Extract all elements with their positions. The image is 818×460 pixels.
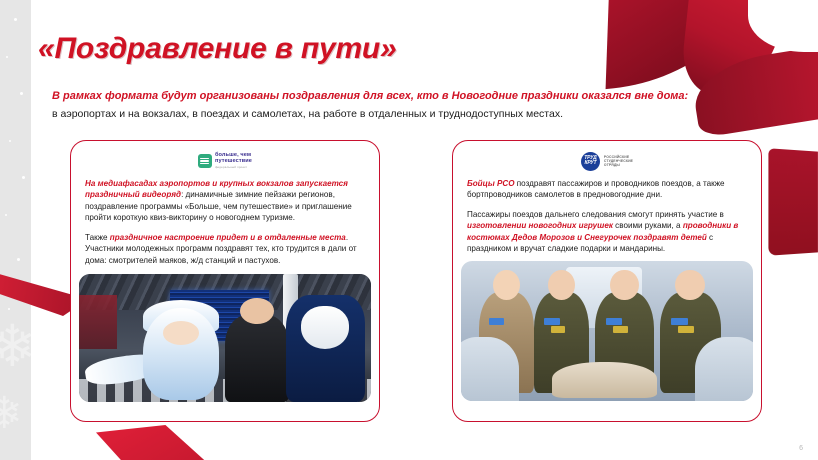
plain-run: своими руками, а [613, 221, 683, 230]
highlight-run: Бойцы РСО [467, 179, 515, 188]
card-media-facades[interactable]: больше, чем путешествие федеральный прое… [70, 140, 380, 422]
intro-sub-text: в аэропортах и на вокзалах, в поездах и … [52, 107, 672, 122]
highlight-run: изготовлении новогодних игрушек [467, 221, 613, 230]
highlight-run: праздничное настроение придет и в отдале… [110, 233, 346, 242]
paragraph: На медиафасадах аэропортов и крупных вок… [85, 178, 365, 224]
card-rso-trains[interactable]: ТРУД КРУТ РОССИЙСКИЕ СТУДЕНЧЕСКИЕ ОТРЯДЫ… [452, 140, 762, 422]
plain-run: Пассажиры поездов дальнего следования см… [467, 210, 724, 219]
ribbon-top-right-1 [606, 0, 761, 89]
page-number: 6 [799, 445, 803, 452]
card-logo-slot: ТРУД КРУТ РОССИЙСКИЕ СТУДЕНЧЕСКИЕ ОТРЯДЫ [453, 148, 761, 174]
slide-root: ❄ ❄ «Поздравление в пути» В рамках форма… [0, 0, 818, 460]
card-logo-slot: больше, чем путешествие федеральный прое… [71, 148, 379, 174]
snow-dot [22, 176, 25, 179]
rso-train-team-photo [461, 261, 753, 401]
page-title: «Поздравление в пути» [38, 32, 397, 66]
snow-dot [6, 56, 8, 58]
ribbon-top-right-2 [679, 0, 789, 101]
card-body-text: На медиафасадах аэропортов и крупных вок… [71, 174, 379, 266]
emblem-line-2: КРУТ [584, 161, 596, 166]
left-decor-strip: ❄ ❄ [0, 0, 31, 460]
book-mark-icon [198, 154, 212, 168]
intro-lead-text: В рамках формата будут организованы позд… [52, 89, 672, 105]
paragraph: Бойцы РСО поздравят пассажиров и проводн… [467, 178, 747, 201]
snow-dot [9, 140, 11, 142]
ribbon-top-right-mask [748, 0, 818, 52]
ribbon-top-right-3 [689, 46, 818, 138]
snow-dot [20, 92, 23, 95]
plain-run: Также [85, 233, 110, 242]
rso-trud-krut-logo: ТРУД КРУТ РОССИЙСКИЕ СТУДЕНЧЕСКИЕ ОТРЯДЫ [581, 152, 633, 171]
rso-emblem-icon: ТРУД КРУТ [581, 152, 600, 171]
snow-dot [8, 308, 10, 310]
intro-block: В рамках формата будут организованы позд… [52, 89, 672, 122]
ribbon-right-band [768, 148, 818, 256]
snowflake-icon: ❄ [0, 318, 31, 376]
snow-dot [5, 214, 7, 216]
card-body-text: Бойцы РСО поздравят пассажиров и проводн… [453, 174, 761, 255]
snow-dot [14, 18, 17, 21]
bolshe-chem-puteshestvie-logo: больше, чем путешествие федеральный прое… [198, 153, 252, 169]
snow-dot [17, 258, 20, 261]
paragraph: Пассажиры поездов дальнего следования см… [467, 209, 747, 255]
ribbon-bottom-chevron [96, 425, 208, 460]
snowflake-icon: ❄ [0, 392, 23, 436]
logo-line-3: ОТРЯДЫ [604, 163, 633, 167]
paragraph: Также праздничное настроение придет и в … [85, 232, 365, 266]
logo-line-2: путешествие [215, 159, 252, 165]
logo-tagline: федеральный проект [215, 166, 252, 169]
airport-ded-moroz-photo [79, 274, 371, 402]
